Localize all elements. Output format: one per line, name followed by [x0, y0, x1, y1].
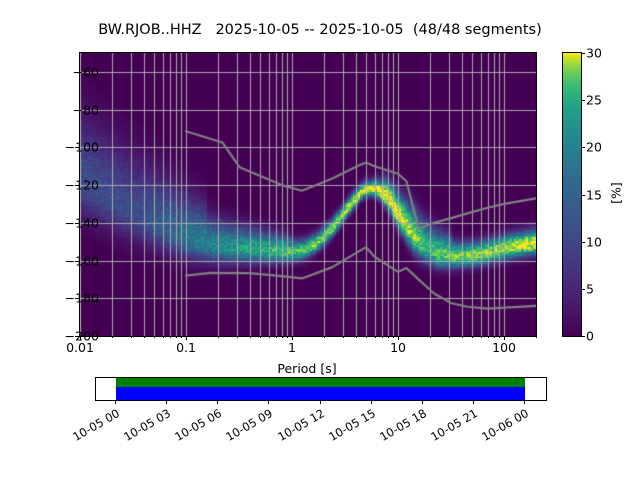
x-tick-mark-minor [430, 336, 431, 338]
x-tick-label: 0.1 [176, 340, 196, 355]
x-tick-mark-minor [382, 336, 383, 338]
timeline-tick-mark [524, 400, 525, 404]
x-tick-label: 10 [390, 340, 406, 355]
timeline-tick-label: 10-06 00 [470, 406, 531, 449]
colorbar-tick-label: 30 [586, 46, 602, 61]
y-tick-mark [75, 110, 79, 111]
y-tick-label: −180 [65, 291, 99, 306]
timeline-tick-mark [371, 400, 372, 404]
x-tick-mark-minor [287, 336, 288, 338]
timeline-segments-band [116, 387, 525, 400]
y-tick-mark [75, 336, 79, 337]
x-tick-mark-minor [112, 336, 113, 338]
colorbar-tick-label: 10 [586, 234, 602, 249]
x-tick-mark-minor [449, 336, 450, 338]
ppsd-figure: BW.RJOB..HHZ 2025-10-05 -- 2025-10-05 (4… [0, 0, 640, 480]
x-tick-mark-minor [269, 336, 270, 338]
x-tick-mark-minor [218, 336, 219, 338]
x-tick-mark-minor [170, 336, 171, 338]
x-tick-mark-minor [176, 336, 177, 338]
x-tick-mark-minor [499, 336, 500, 338]
colorbar-tick-mark [581, 100, 585, 101]
colorbar [562, 52, 582, 337]
timeline-tick-mark [166, 400, 167, 404]
x-tick-mark [398, 336, 399, 340]
y-tick-mark [75, 185, 79, 186]
x-tick-mark-minor [366, 336, 367, 338]
x-tick-mark-minor [282, 336, 283, 338]
x-axis-label: Period [s] [79, 361, 535, 376]
y-tick-mark [75, 298, 79, 299]
timeline-tick-mark [217, 400, 218, 404]
colorbar-tick-label: 20 [586, 140, 602, 155]
x-tick-mark-minor [181, 336, 182, 338]
timeline-tick-mark [473, 400, 474, 404]
x-tick-mark-minor [250, 336, 251, 338]
timeline-tick-label: 10-05 12 [266, 406, 327, 449]
y-tick-label: −140 [65, 215, 99, 230]
x-tick-mark [186, 336, 187, 340]
x-tick-mark [80, 336, 81, 340]
timeline-tick-label: 10-05 15 [317, 406, 378, 449]
x-tick-label: 0.01 [66, 340, 94, 355]
x-tick-mark-minor [343, 336, 344, 338]
colorbar-tick-mark [581, 53, 585, 54]
y-tick-label: −120 [65, 178, 99, 193]
timeline-coverage-band [116, 378, 525, 387]
timeline-tick-mark [320, 400, 321, 404]
colorbar-tick-mark [581, 289, 585, 290]
x-tick-mark [504, 336, 505, 340]
timeline-tick-label: 10-05 03 [112, 406, 173, 449]
y-tick-mark [75, 223, 79, 224]
x-tick-label: 1 [288, 340, 296, 355]
colorbar-tick-mark [581, 336, 585, 337]
x-tick-mark-minor [375, 336, 376, 338]
y-tick-mark [75, 147, 79, 148]
timeline-tick-label: 10-05 21 [419, 406, 480, 449]
x-tick-mark [292, 336, 293, 340]
y-tick-label: −160 [65, 253, 99, 268]
timeline-tick-mark [268, 400, 269, 404]
colorbar-tick-label: 25 [586, 93, 602, 108]
timeline-axis [95, 377, 547, 401]
x-tick-mark-minor [472, 336, 473, 338]
timeline-tick-mark [422, 400, 423, 404]
x-tick-mark-minor [494, 336, 495, 338]
colorbar-tick-mark [581, 147, 585, 148]
timeline-tick-label: 10-05 00 [61, 406, 122, 449]
x-tick-mark-minor [276, 336, 277, 338]
x-tick-mark-minor [488, 336, 489, 338]
x-tick-mark-minor [356, 336, 357, 338]
x-tick-mark-minor [481, 336, 482, 338]
figure-title: BW.RJOB..HHZ 2025-10-05 -- 2025-10-05 (4… [0, 22, 640, 38]
ppsd-density-canvas [80, 53, 536, 336]
timeline-tick-label: 10-05 06 [164, 406, 225, 449]
colorbar-tick-mark [581, 242, 585, 243]
y-tick-mark [75, 261, 79, 262]
x-tick-mark-minor [393, 336, 394, 338]
colorbar-tick-mark [581, 195, 585, 196]
x-tick-mark-minor [144, 336, 145, 338]
x-tick-mark-minor [462, 336, 463, 338]
x-tick-mark-minor [324, 336, 325, 338]
colorbar-tick-label: 0 [586, 329, 594, 344]
x-tick-mark-minor [388, 336, 389, 338]
colorbar-tick-label: 5 [586, 281, 594, 296]
timeline-tick-label: 10-05 18 [368, 406, 429, 449]
colorbar-tick-label: 15 [586, 187, 602, 202]
x-tick-mark-minor [154, 336, 155, 338]
colorbar-label: [%] [609, 182, 624, 204]
x-tick-mark-minor [131, 336, 132, 338]
timeline-tick-mark [115, 400, 116, 404]
y-tick-mark [75, 72, 79, 73]
x-tick-mark-minor [260, 336, 261, 338]
x-tick-mark-minor [237, 336, 238, 338]
x-tick-mark-minor [536, 336, 537, 338]
x-tick-label: 100 [492, 340, 516, 355]
timeline-tick-label: 10-05 09 [215, 406, 276, 449]
y-tick-label: −100 [65, 140, 99, 155]
ppsd-plot-area [79, 52, 537, 337]
x-tick-mark-minor [163, 336, 164, 338]
